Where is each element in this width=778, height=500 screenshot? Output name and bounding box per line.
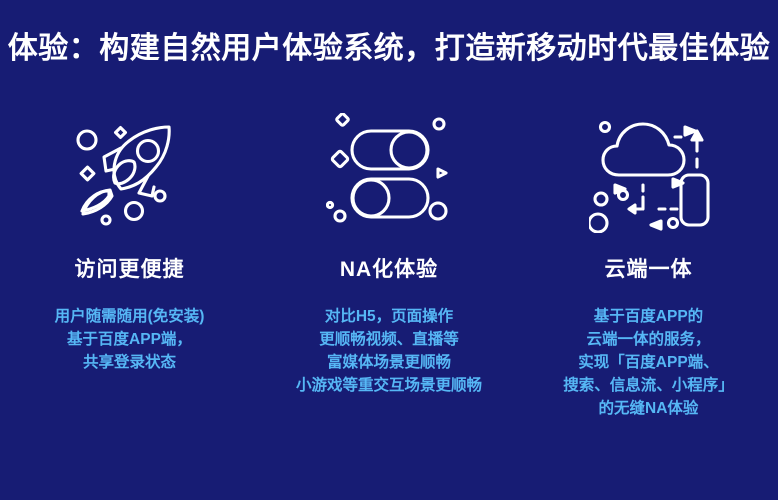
feature-columns: 访问更便捷 用户随需随用(免安装) 基于百度APP端， 共享登录状态 xyxy=(0,110,778,470)
body-line: 的无缝NA体验 xyxy=(563,397,734,420)
column-body: 对比H5，页面操作 更顺畅视频、直播等 富媒体场景更顺畅 小游戏等重交互场景更顺… xyxy=(296,305,482,397)
page-title: 体验：构建自然用户体验系统，打造新移动时代最佳体验 xyxy=(0,28,778,70)
column-heading: 访问更便捷 xyxy=(75,253,185,283)
column-heading: 云端一体 xyxy=(605,253,693,283)
feature-column-access: 访问更便捷 用户随需随用(免安装) 基于百度APP端， 共享登录状态 xyxy=(0,110,259,374)
feature-column-na: NA化体验 对比H5，页面操作 更顺畅视频、直播等 富媒体场景更顺畅 小游戏等重… xyxy=(260,110,519,397)
body-line: 搜索、信息流、小程序」 xyxy=(563,374,734,397)
body-line: 基于百度APP端， xyxy=(55,328,205,351)
body-line: 基于百度APP的 xyxy=(563,305,734,328)
body-line: 更顺畅视频、直播等 xyxy=(296,328,482,351)
body-line: 对比H5，页面操作 xyxy=(296,305,482,328)
cloud-device-icon xyxy=(582,110,722,235)
column-heading: NA化体验 xyxy=(340,253,438,283)
body-line: 共享登录状态 xyxy=(55,351,205,374)
body-line: 小游戏等重交互场景更顺畅 xyxy=(296,374,482,397)
body-line: 富媒体场景更顺畅 xyxy=(296,351,482,374)
column-body: 基于百度APP的 云端一体的服务， 实现「百度APP端、 搜索、信息流、小程序」… xyxy=(563,305,734,420)
feature-column-cloud: 云端一体 基于百度APP的 云端一体的服务， 实现「百度APP端、 搜索、信息流… xyxy=(519,110,778,420)
body-line: 云端一体的服务， xyxy=(563,328,734,351)
slide-root: 体验：构建自然用户体验系统，打造新移动时代最佳体验 xyxy=(0,0,778,500)
column-body: 用户随需随用(免安装) 基于百度APP端， 共享登录状态 xyxy=(55,305,205,374)
body-line: 实现「百度APP端、 xyxy=(563,351,734,374)
toggle-switches-icon xyxy=(319,110,459,235)
body-line: 用户随需随用(免安装) xyxy=(55,305,205,328)
rocket-icon xyxy=(58,110,198,235)
